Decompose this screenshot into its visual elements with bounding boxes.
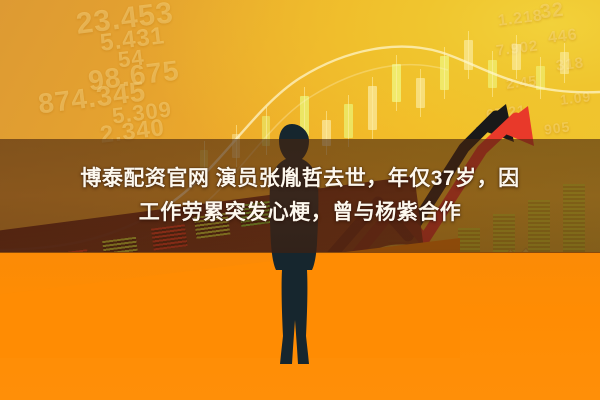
headline-line-1: 博泰配资官网 演员张胤哲去世，年仅37岁，因 — [80, 164, 519, 194]
headline-line-2: 工作劳累突发心梗，曾与杨紫合作 — [139, 198, 462, 228]
headline: 博泰配资官网 演员张胤哲去世，年仅37岁，因 工作劳累突发心梗，曾与杨紫合作 — [0, 139, 600, 253]
banner-image: 23.4535.4315498.675874.3455.3092.340321.… — [0, 0, 600, 400]
